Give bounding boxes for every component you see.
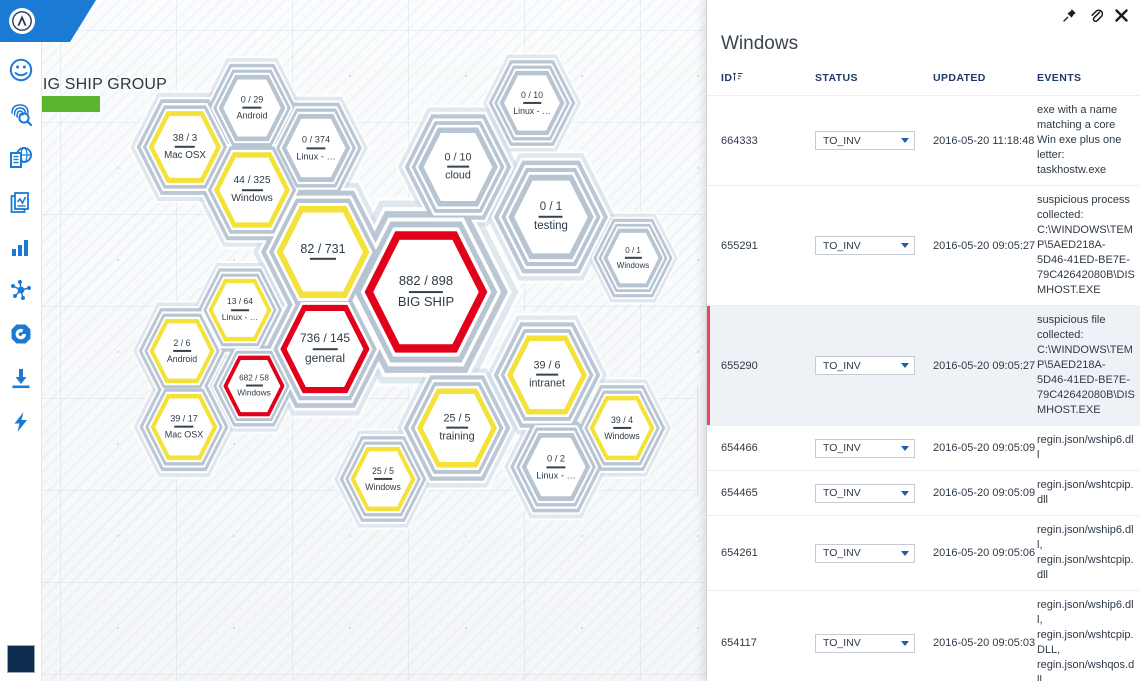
table-row[interactable]: 655290TO_INV2016-05-20 09:05:27suspiciou…: [707, 306, 1140, 426]
globe-report-icon: [8, 145, 34, 171]
cell-id: 655291: [707, 186, 815, 306]
cell-events: regin.json/wshtcpip.dll: [1037, 471, 1140, 516]
cell-events: suspicious file collected: C:\WINDOWS\TE…: [1037, 306, 1140, 426]
pin-icon[interactable]: [1063, 8, 1077, 27]
events-table-head: ID STATUS UPDATED EVENTS: [707, 66, 1140, 96]
cell-id: 654466: [707, 426, 815, 471]
table-header-row: ID STATUS UPDATED EVENTS: [707, 66, 1140, 96]
panel-title: Windows: [721, 33, 798, 55]
cell-status: TO_INV: [815, 186, 933, 306]
table-row[interactable]: 654117TO_INV2016-05-20 09:05:03regin.jso…: [707, 591, 1140, 681]
sidebar-item-protection[interactable]: [0, 312, 42, 356]
chevron-down-icon: [901, 138, 909, 143]
cell-id: 654117: [707, 591, 815, 681]
status-value: TO_INV: [823, 360, 861, 372]
sidebar-item-live-events[interactable]: [0, 400, 42, 444]
status-dropdown[interactable]: TO_INV: [815, 439, 915, 458]
cell-updated: 2016-05-20 09:05:27: [933, 186, 1037, 306]
status-dropdown[interactable]: TO_INV: [815, 484, 915, 503]
chevron-down-icon: [901, 243, 909, 248]
apex-logo-icon: [9, 8, 35, 34]
sidebar-item-reports[interactable]: [0, 180, 42, 224]
column-header-updated[interactable]: UPDATED: [933, 66, 1037, 96]
status-dropdown[interactable]: TO_INV: [815, 356, 915, 375]
sidebar-nav: [0, 48, 42, 444]
events-table-body: 664333TO_INV2016-05-20 11:18:48exe with …: [707, 96, 1140, 681]
sidebar-item-forensics[interactable]: [0, 92, 42, 136]
cell-status: TO_INV: [815, 591, 933, 681]
cell-status: TO_INV: [815, 471, 933, 516]
chevron-down-icon: [901, 491, 909, 496]
network-nodes-icon: [8, 277, 34, 303]
detail-panel: Windows ID STATUS UPDATED EVENTS 664333T…: [706, 0, 1140, 681]
cell-events: regin.json/wship6.dll: [1037, 426, 1140, 471]
sidebar-item-downloads[interactable]: [0, 356, 42, 400]
cell-id: 664333: [707, 96, 815, 186]
status-dropdown[interactable]: TO_INV: [815, 634, 915, 653]
table-row[interactable]: 654466TO_INV2016-05-20 09:05:09regin.jso…: [707, 426, 1140, 471]
column-header-id[interactable]: ID: [707, 66, 815, 96]
cell-status: TO_INV: [815, 96, 933, 186]
paperclip-icon[interactable]: [1089, 8, 1103, 27]
sidebar-item-topology[interactable]: [0, 268, 42, 312]
column-header-events[interactable]: EVENTS: [1037, 66, 1140, 96]
chevron-down-icon: [901, 551, 909, 556]
events-table-container[interactable]: ID STATUS UPDATED EVENTS 664333TO_INV201…: [707, 66, 1140, 681]
table-row[interactable]: 654465TO_INV2016-05-20 09:05:09regin.jso…: [707, 471, 1140, 516]
status-dropdown[interactable]: TO_INV: [815, 236, 915, 255]
cell-updated: 2016-05-20 11:18:48: [933, 96, 1037, 186]
hex-map-canvas[interactable]: BIG SHIP GROUP 0 / 29Android38 / 3Mac OS…: [42, 0, 707, 681]
shield-octagon-icon: [8, 321, 34, 347]
status-value: TO_INV: [823, 442, 861, 454]
status-value: TO_INV: [823, 637, 861, 649]
fingerprint-search-icon: [8, 101, 34, 127]
table-row[interactable]: 655291TO_INV2016-05-20 09:05:27suspiciou…: [707, 186, 1140, 306]
close-icon[interactable]: [1115, 9, 1128, 27]
status-value: TO_INV: [823, 487, 861, 499]
dashboard-gauge-icon: [8, 57, 34, 83]
sidebar-item-threat-intel[interactable]: [0, 136, 42, 180]
sort-indicator-icon[interactable]: [732, 72, 743, 85]
lightning-icon: [8, 409, 34, 435]
sidebar-footer-square[interactable]: [7, 645, 35, 673]
chevron-down-icon: [901, 641, 909, 646]
cell-id: 654465: [707, 471, 815, 516]
cell-status: TO_INV: [815, 426, 933, 471]
status-value: TO_INV: [823, 240, 861, 252]
cell-status: TO_INV: [815, 306, 933, 426]
status-value: TO_INV: [823, 547, 861, 559]
cell-updated: 2016-05-20 09:05:09: [933, 471, 1037, 516]
cell-events: regin.json/wship6.dll, regin.json/wshtcp…: [1037, 591, 1140, 681]
chevron-down-icon: [901, 363, 909, 368]
sidebar-item-dashboard[interactable]: [0, 48, 42, 92]
column-header-id-label: ID: [721, 72, 732, 84]
cell-events: suspicious process collected: C:\WINDOWS…: [1037, 186, 1140, 306]
cell-id: 655290: [707, 306, 815, 426]
sidebar-item-analytics[interactable]: [0, 224, 42, 268]
cell-id: 654261: [707, 516, 815, 591]
panel-toolbar: [1063, 8, 1128, 27]
group-status-bar: [42, 96, 100, 112]
cell-events: regin.json/wship6.dll, regin.json/wshtcp…: [1037, 516, 1140, 591]
cell-updated: 2016-05-20 09:05:03: [933, 591, 1037, 681]
cell-updated: 2016-05-20 09:05:09: [933, 426, 1037, 471]
download-icon: [8, 365, 34, 391]
events-table: ID STATUS UPDATED EVENTS 664333TO_INV201…: [707, 66, 1140, 681]
table-row[interactable]: 664333TO_INV2016-05-20 11:18:48exe with …: [707, 96, 1140, 186]
cell-updated: 2016-05-20 09:05:06: [933, 516, 1037, 591]
status-value: TO_INV: [823, 135, 861, 147]
application-window: BIG SHIP GROUP 0 / 29Android38 / 3Mac OS…: [0, 0, 1140, 681]
column-header-status[interactable]: STATUS: [815, 66, 933, 96]
bar-chart-icon: [8, 233, 34, 259]
status-dropdown[interactable]: TO_INV: [815, 131, 915, 150]
chevron-down-icon: [901, 446, 909, 451]
status-dropdown[interactable]: TO_INV: [815, 544, 915, 563]
document-chart-icon: [8, 189, 34, 215]
table-row[interactable]: 654261TO_INV2016-05-20 09:05:06regin.jso…: [707, 516, 1140, 591]
cell-events: exe with a name matching a core Win exe …: [1037, 96, 1140, 186]
cell-status: TO_INV: [815, 516, 933, 591]
group-title: BIG SHIP GROUP: [42, 76, 167, 94]
left-sidebar: [0, 0, 42, 681]
cell-updated: 2016-05-20 09:05:27: [933, 306, 1037, 426]
